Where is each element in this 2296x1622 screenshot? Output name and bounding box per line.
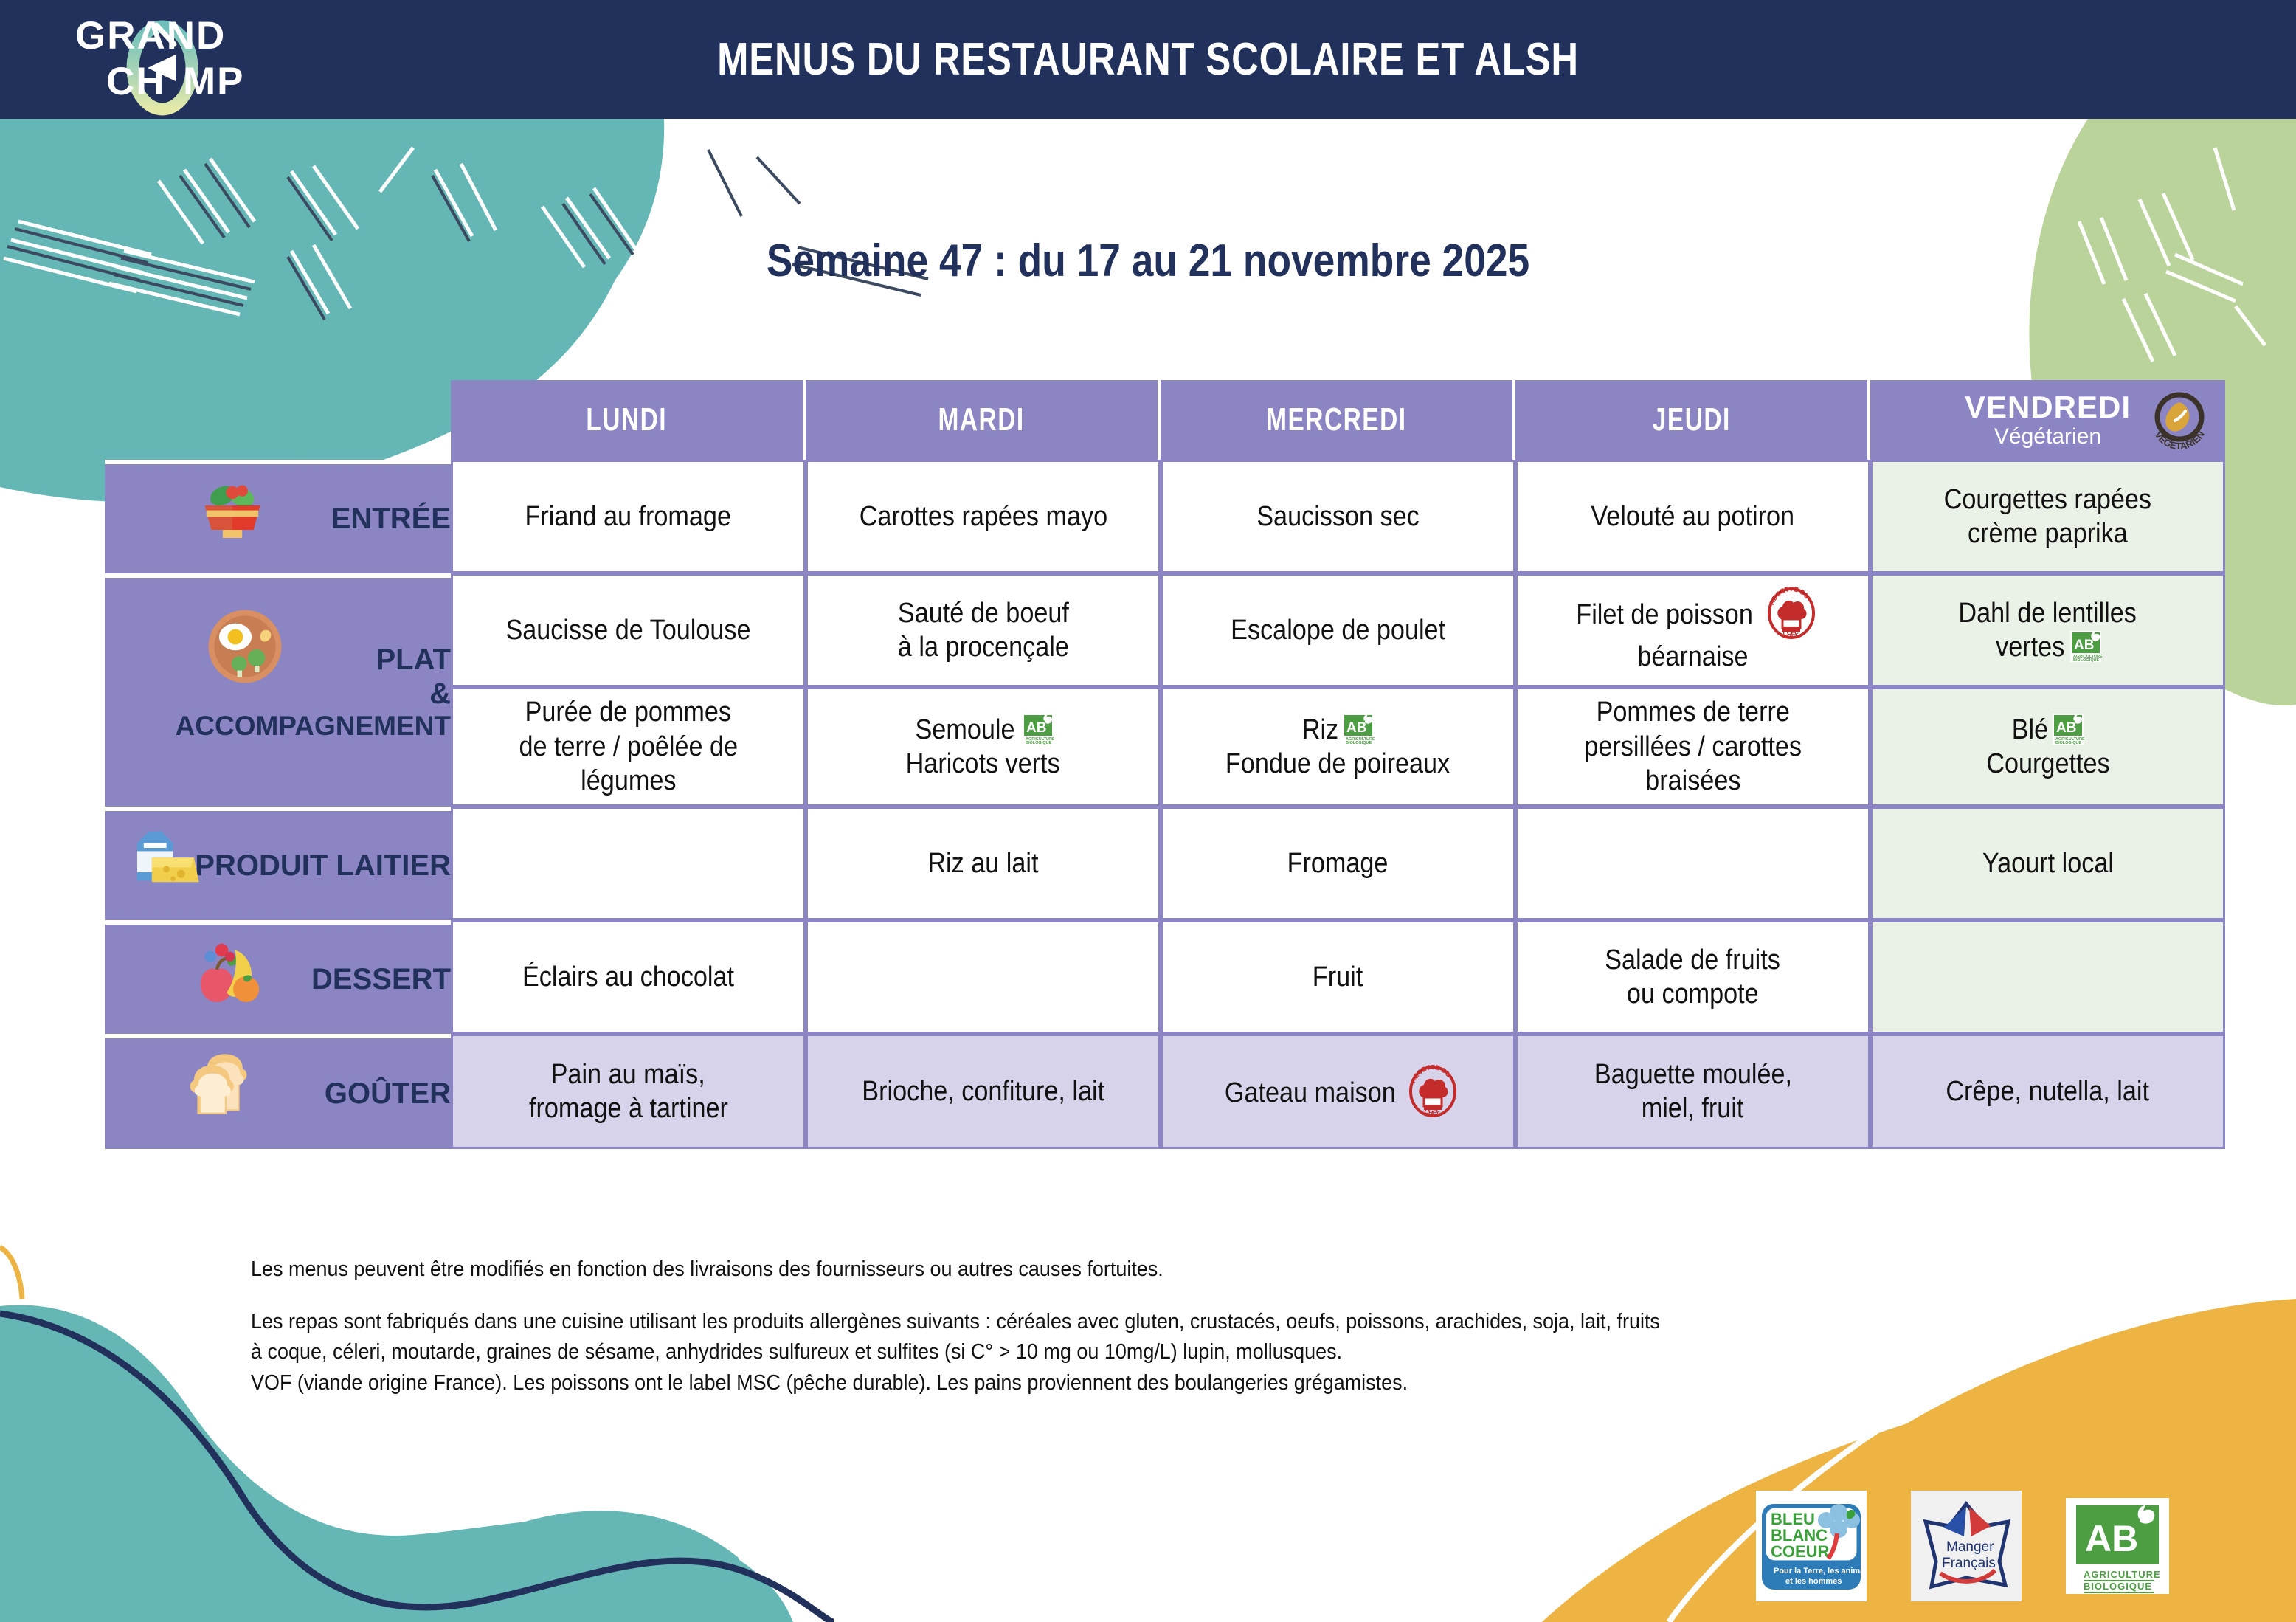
cell-line: Fruit (1163, 960, 1513, 994)
table-row: DESSERTÉclairs au chocolatFruitSalade de… (105, 920, 2225, 1034)
cell-line: Carottes rapées mayo (808, 500, 1158, 534)
cell-line: Gateau maisonRECETTE DUCHEF (1163, 1065, 1513, 1118)
menu-cell-plat-1[interactable]: Sauté de boeufà la procençale (806, 573, 1161, 687)
menu-cell-entree-3[interactable]: Velouté au potiron (1515, 460, 1870, 573)
svg-text:AB: AB (2074, 638, 2094, 653)
menu-cell-produit-laitier-3[interactable] (1515, 807, 1870, 920)
row-label-dessert: DESSERT (105, 920, 451, 1034)
menu-cell-entree-2[interactable]: Saucisson sec (1161, 460, 1515, 573)
svg-text:AB: AB (1026, 720, 1046, 736)
cell-line: Dahl de lentilles (1873, 596, 2223, 630)
cell-line: Crêpe, nutella, lait (1873, 1074, 2223, 1108)
cell-line: RizABAGRICULTUREBIOLOGIQUE (1163, 713, 1513, 747)
cell-line: vertesABAGRICULTUREBIOLOGIQUE (1873, 630, 2223, 664)
table-row: GOÛTERPain au maïs,fromage à tartinerBri… (105, 1034, 2225, 1149)
menu-cell-gouter-1[interactable]: Brioche, confiture, lait (806, 1034, 1161, 1149)
bleu-blanc-coeur-logo: BLEU BLANC COEUR Pour la Terre, les anim… (1756, 1491, 1867, 1601)
svg-text:BIOLOGIQUE: BIOLOGIQUE (2073, 658, 2099, 663)
cell-line: Courgettes (1873, 747, 2223, 781)
menu-cell-accompagnement-4[interactable]: BléABAGRICULTUREBIOLOGIQUECourgettes (1870, 687, 2225, 807)
bread-slices-icon (186, 1043, 267, 1124)
day-header-label: LUNDI (587, 401, 668, 438)
ab-logo-line2: AGRICULTURE (2084, 1569, 2161, 1580)
day-header-jeudi[interactable]: JEUDI (1515, 380, 1870, 460)
cell-line: SemouleABAGRICULTUREBIOLOGIQUE (808, 713, 1158, 747)
milk-cheese-icon (121, 815, 202, 897)
menu-cell-entree-0[interactable]: Friand au fromage (451, 460, 806, 573)
ab-organic-badge: ABAGRICULTUREBIOLOGIQUE (2069, 630, 2102, 663)
day-header-label: JEUDI (1652, 401, 1730, 438)
cell-line: Courgettes rapées (1873, 483, 2223, 517)
table-row: PLAT&ACCOMPAGNEMENTSaucisse de ToulouseS… (105, 573, 2225, 687)
menu-cell-plat-2[interactable]: Escalope de poulet (1161, 573, 1515, 687)
cell-line: miel, fruit (1518, 1091, 1868, 1125)
cell-line: Baguette moulée, (1518, 1057, 1868, 1091)
plate-egg-icon (197, 598, 293, 694)
logo-text-grand: GRAND (75, 14, 226, 58)
cell-line: Sauté de boeuf (808, 596, 1158, 630)
menu-cell-gouter-3[interactable]: Baguette moulée,miel, fruit (1515, 1034, 1870, 1149)
menu-cell-plat-0[interactable]: Saucisse de Toulouse (451, 573, 806, 687)
menu-cell-accompagnement-1[interactable]: SemouleABAGRICULTUREBIOLOGIQUEHaricots v… (806, 687, 1161, 807)
ab-logo-line3: BIOLOGIQUE (2084, 1581, 2152, 1592)
page-header: GRAND CH MP MENUS DU RESTAURANT SCOLAIRE… (0, 0, 2296, 119)
cell-line: persillées / carottes (1518, 730, 1868, 764)
table-header-row: LUNDIMARDIMERCREDIJEUDIVENDREDIVégétarie… (105, 380, 2225, 460)
row-label-entree: ENTRÉE (105, 460, 451, 573)
certification-logos: BLEU BLANC COEUR Pour la Terre, les anim… (1756, 1487, 2228, 1605)
menu-cell-produit-laitier-4[interactable]: Yaourt local (1870, 807, 2225, 920)
cell-line: Purée de pommes (453, 695, 803, 729)
svg-text:BIOLOGIQUE: BIOLOGIQUE (1346, 741, 1372, 745)
menu-cell-gouter-2[interactable]: Gateau maisonRECETTE DUCHEF (1161, 1034, 1515, 1149)
ab-organic-badge: ABAGRICULTUREBIOLOGIQUE (2052, 713, 2084, 745)
mf-line1: Manger (1946, 1539, 1994, 1555)
vegetarien-badge: VÉGÉTARIEN (2144, 384, 2215, 455)
cell-line: crème paprika (1873, 517, 2223, 551)
menu-cell-gouter-4[interactable]: Crêpe, nutella, lait (1870, 1034, 2225, 1149)
cell-line: Escalope de poulet (1163, 613, 1513, 647)
day-header-vendredi[interactable]: VENDREDIVégétarienVÉGÉTARIEN (1870, 380, 2225, 460)
cell-line: béarnaise (1518, 640, 1868, 674)
menu-cell-dessert-4[interactable] (1870, 920, 2225, 1034)
fruits-icon (184, 929, 266, 1010)
menu-cell-entree-1[interactable]: Carottes rapées mayo (806, 460, 1161, 573)
salad-bowl-icon (192, 473, 273, 554)
menu-cell-entree-4[interactable]: Courgettes rapéescrème paprika (1870, 460, 2225, 573)
menu-cell-accompagnement-0[interactable]: Purée de pommesde terre / poêlée delégum… (451, 687, 806, 807)
day-header-mardi[interactable]: MARDI (806, 380, 1161, 460)
cell-line: ou compote (1518, 977, 1868, 1011)
manger-francais-logo: Manger Français (1911, 1491, 2022, 1601)
cell-line: Saucisson sec (1163, 500, 1513, 534)
row-label-gouter: GOÛTER (105, 1034, 451, 1149)
cell-line: Friand au fromage (453, 500, 803, 534)
table-row: ENTRÉEFriand au fromageCarottes rapées m… (105, 460, 2225, 573)
cell-line: Pain au maïs, (453, 1057, 803, 1091)
cell-line: Riz au lait (808, 846, 1158, 880)
day-header-sublabel: Végétarien (1994, 426, 2101, 448)
cell-line (1873, 960, 2223, 994)
menu-cell-produit-laitier-2[interactable]: Fromage (1161, 807, 1515, 920)
cell-line: Yaourt local (1873, 846, 2223, 880)
menu-cell-produit-laitier-0[interactable] (451, 807, 806, 920)
day-header-label: VENDREDI (1965, 392, 2131, 423)
day-header-mercredi[interactable]: MERCREDI (1161, 380, 1515, 460)
week-subtitle: Semaine 47 : du 17 au 21 novembre 2025 (161, 235, 2135, 287)
menu-cell-gouter-0[interactable]: Pain au maïs,fromage à tartiner (451, 1034, 806, 1149)
mf-line2: Français (1942, 1556, 1996, 1571)
menu-cell-dessert-2[interactable]: Fruit (1161, 920, 1515, 1034)
svg-text:BIOLOGIQUE: BIOLOGIQUE (1026, 741, 1051, 745)
cell-line (453, 846, 803, 880)
note-line-2: Les repas sont fabriqués dans une cuisin… (251, 1307, 1948, 1337)
cell-line: Fondue de poireaux (1163, 747, 1513, 781)
header-corner-cell (105, 380, 451, 460)
cell-line: BléABAGRICULTUREBIOLOGIQUE (1873, 713, 2223, 747)
day-header-label: MERCREDI (1266, 401, 1407, 438)
recette-du-chef-badge: RECETTE DUCHEF (1765, 587, 1818, 640)
menu-cell-dessert-0[interactable]: Éclairs au chocolat (451, 920, 806, 1034)
ab-organic-badge: ABAGRICULTUREBIOLOGIQUE (1022, 713, 1054, 745)
cell-line: Fromage (1163, 846, 1513, 880)
note-line-4: VOF (viande origine France). Les poisson… (251, 1368, 1948, 1398)
day-header-label: MARDI (938, 401, 1025, 438)
cell-line: de terre / poêlée de (453, 730, 803, 764)
menu-table: LUNDIMARDIMERCREDIJEUDIVENDREDIVégétarie… (105, 380, 2225, 1149)
row-label-produit-laitier: PRODUIT LAITIER (105, 807, 451, 920)
cell-line: Pommes de terre (1518, 695, 1868, 729)
table-row: PRODUIT LAITIERRiz au laitFromageYaourt … (105, 807, 2225, 920)
cell-line: Haricots verts (808, 747, 1158, 781)
cell-line: fromage à tartiner (453, 1091, 803, 1125)
bbc-tag1: Pour la Terre, les animaux (1774, 1567, 1867, 1576)
footer-notes: Les menus peuvent être modifiés en fonct… (251, 1255, 1948, 1398)
page-title: MENUS DU RESTAURANT SCOLAIRE ET ALSH (207, 0, 2089, 119)
menu-cell-plat-3[interactable]: Filet de poissonRECETTE DUCHEFbéarnaise (1515, 573, 1870, 687)
menu-cell-plat-4[interactable]: Dahl de lentillesvertesABAGRICULTUREBIOL… (1870, 573, 2225, 687)
cell-line: Brioche, confiture, lait (808, 1074, 1158, 1108)
menu-cell-accompagnement-2[interactable]: RizABAGRICULTUREBIOLOGIQUEFondue de poir… (1161, 687, 1515, 807)
cell-line: Éclairs au chocolat (453, 960, 803, 994)
note-line-1: Les menus peuvent être modifiés en fonct… (251, 1255, 1948, 1285)
cell-line (808, 960, 1158, 994)
menu-cell-produit-laitier-1[interactable]: Riz au lait (806, 807, 1161, 920)
cell-line: à la procençale (808, 630, 1158, 664)
svg-text:AB: AB (1346, 720, 1366, 736)
menu-cell-accompagnement-3[interactable]: Pommes de terrepersillées / carottesbrai… (1515, 687, 1870, 807)
bbc-tag2: et les hommes (1785, 1577, 1842, 1586)
cell-line: Velouté au potiron (1518, 500, 1868, 534)
ab-logo-letters: AB (2085, 1518, 2138, 1559)
cell-line: légumes (453, 764, 803, 798)
svg-text:AB: AB (2056, 720, 2076, 736)
agriculture-biologique-logo: AB AGRICULTURE BIOLOGIQUE (2066, 1498, 2169, 1594)
ab-organic-badge: ABAGRICULTUREBIOLOGIQUE (1342, 713, 1375, 745)
bbc-line3: COEUR (1771, 1542, 1830, 1561)
day-header-lundi[interactable]: LUNDI (451, 380, 806, 460)
menu-cell-dessert-1[interactable] (806, 920, 1161, 1034)
cell-line: braisées (1518, 764, 1868, 798)
cell-line: Saucisse de Toulouse (453, 613, 803, 647)
note-line-3: à coque, céleri, moutarde, graines de sé… (251, 1337, 1948, 1367)
cell-line: Filet de poissonRECETTE DUCHEF (1518, 587, 1868, 640)
recette-du-chef-badge: RECETTE DUCHEF (1406, 1065, 1459, 1118)
menu-cell-dessert-3[interactable]: Salade de fruitsou compote (1515, 920, 1870, 1034)
cell-line: Salade de fruits (1518, 943, 1868, 977)
row-label-plat-accompagnement: PLAT&ACCOMPAGNEMENT (105, 573, 451, 807)
svg-text:BIOLOGIQUE: BIOLOGIQUE (2055, 741, 2081, 745)
cell-line (1518, 846, 1868, 880)
